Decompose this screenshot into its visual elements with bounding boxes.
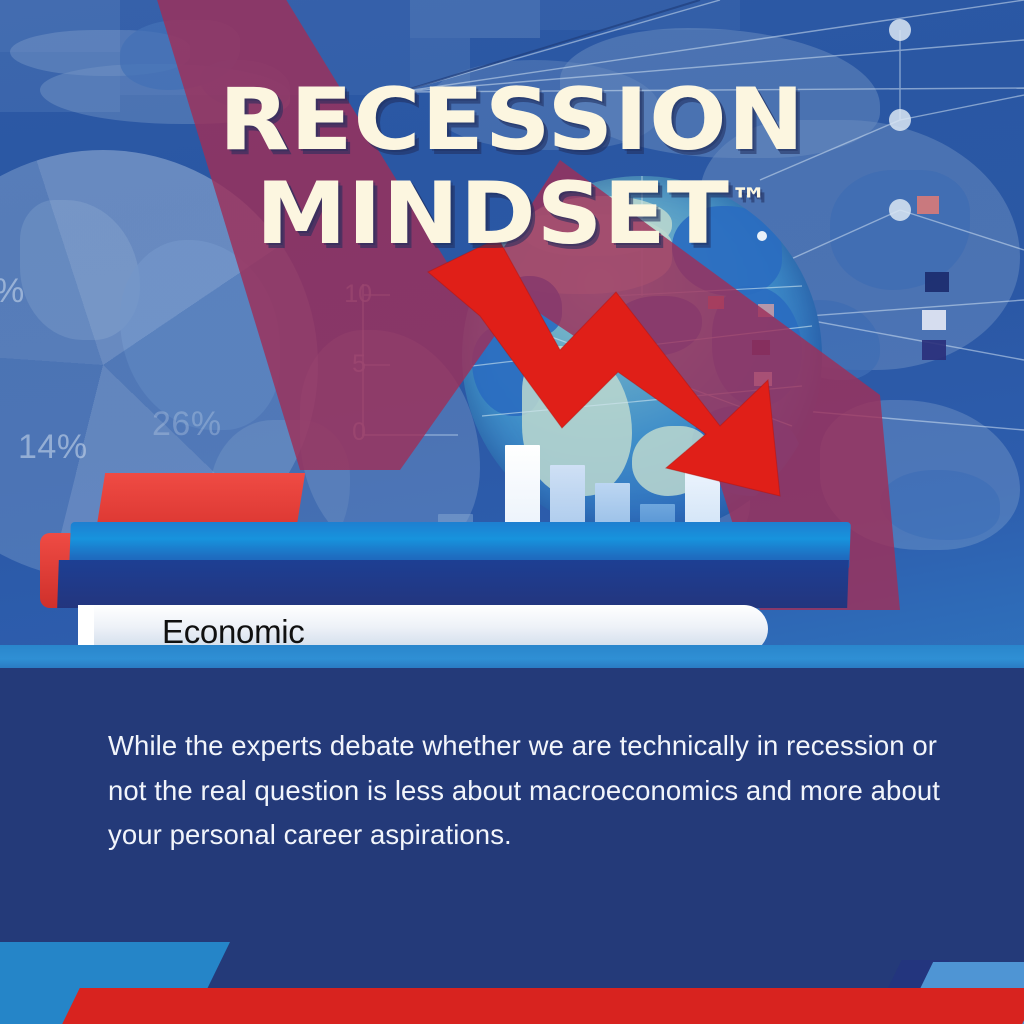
declining-trend-arrow: [420, 230, 820, 530]
footer-shape-red: [60, 988, 1024, 1024]
hero-graphic: % 14% 26% 10 5 0: [0, 0, 1024, 668]
body-paragraph: While the experts debate whether we are …: [108, 724, 974, 858]
poster-canvas: % 14% 26% 10 5 0: [0, 0, 1024, 1024]
hero-bottom-strip: [0, 645, 1024, 668]
banner-bar-mid: [57, 560, 849, 608]
